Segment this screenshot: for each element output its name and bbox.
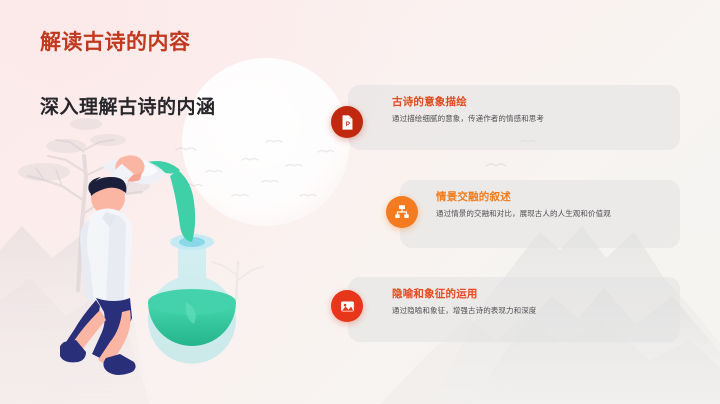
slide-title: 解读古诗的内容 bbox=[40, 26, 191, 56]
scientist-illustration bbox=[60, 150, 290, 380]
org-chart-icon bbox=[386, 196, 418, 228]
content-card-1[interactable]: 古诗的意象描绘 通过描绘细腻的意象，传递作者的情感和思考 bbox=[348, 85, 680, 150]
card-2-text-group: 情景交融的叙述 通过情景的交融和对比，展现古人的人生观和价值观 bbox=[436, 190, 674, 220]
card-2-title: 情景交融的叙述 bbox=[436, 190, 674, 204]
content-card-3[interactable]: 隐喻和象征的运用 通过隐喻和象征，增强古诗的表现力和深度 bbox=[348, 277, 680, 342]
card-1-description: 通过描绘细腻的意象，传递作者的情感和思考 bbox=[392, 113, 668, 125]
content-card-2[interactable]: 情景交融的叙述 通过情景的交融和对比，展现古人的人生观和价值观 bbox=[400, 180, 680, 248]
card-1-title: 古诗的意象描绘 bbox=[392, 95, 668, 109]
card-3-text-group: 隐喻和象征的运用 通过隐喻和象征，增强古诗的表现力和深度 bbox=[392, 287, 668, 317]
slide-subtitle: 深入理解古诗的内涵 bbox=[40, 92, 216, 119]
card-2-description: 通过情景的交融和对比，展现古人的人生观和价值观 bbox=[436, 208, 674, 220]
presentation-slide: 解读古诗的内容 深入理解古诗的内涵 古诗的意象描绘 通过描绘细腻的意象，传递作者… bbox=[0, 0, 720, 404]
powerpoint-document-icon: P bbox=[331, 106, 363, 138]
image-picture-icon bbox=[331, 290, 363, 322]
svg-text:P: P bbox=[345, 121, 350, 128]
card-1-text-group: 古诗的意象描绘 通过描绘细腻的意象，传递作者的情感和思考 bbox=[392, 95, 668, 125]
card-3-description: 通过隐喻和象征，增强古诗的表现力和深度 bbox=[392, 305, 668, 317]
sun-circle-decoration bbox=[182, 58, 350, 226]
card-3-title: 隐喻和象征的运用 bbox=[392, 287, 668, 301]
